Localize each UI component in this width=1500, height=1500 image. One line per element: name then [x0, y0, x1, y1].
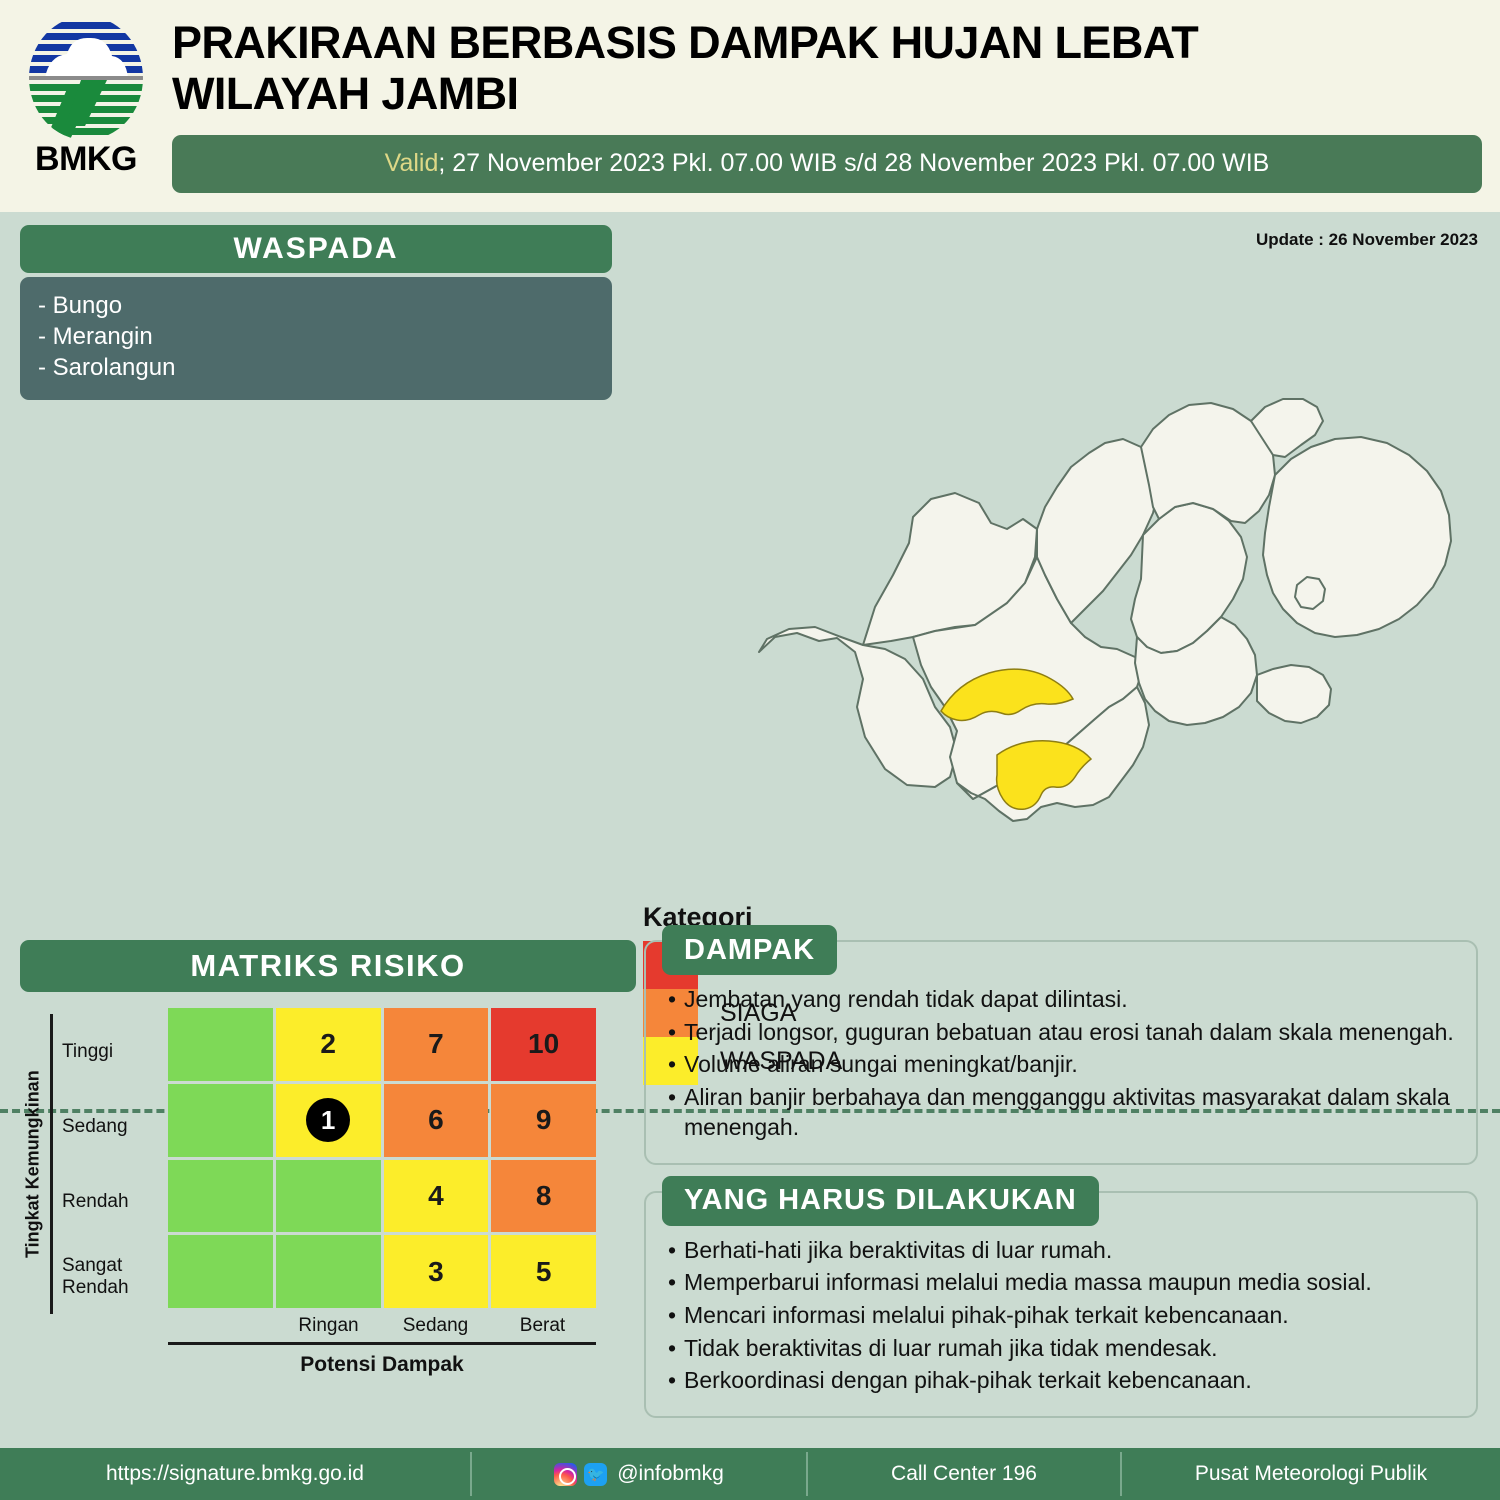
- matrix-grid-wrap: 27101694835 Ringan Sedang Berat Potensi …: [168, 1008, 596, 1377]
- tindakan-list: Berhati-hati jika beraktivitas di luar r…: [668, 1235, 1454, 1396]
- x-label-ringan: Ringan: [275, 1315, 382, 1337]
- list-item: Volume aliran sungai meningkat/banjir.: [668, 1049, 1454, 1080]
- y-label-sangat-rendah: Sangat Rendah: [62, 1239, 168, 1314]
- x-label-berat: Berat: [489, 1315, 596, 1337]
- list-item: - Merangin: [38, 321, 594, 352]
- validity-banner: Valid; 27 November 2023 Pkl. 07.00 WIB s…: [172, 135, 1482, 193]
- matrix-cell[interactable]: 1: [276, 1084, 381, 1157]
- matrix-cell[interactable]: 8: [491, 1160, 596, 1233]
- footer-social-handle: @infobmkg: [617, 1462, 724, 1486]
- footer-social[interactable]: @infobmkg: [472, 1448, 806, 1500]
- lower-section: MATRIKS RISIKO Tingkat Kemungkinan Tingg…: [0, 940, 1500, 1448]
- matrix-cell[interactable]: 7: [384, 1008, 489, 1081]
- list-item: Berhati-hati jika beraktivitas di luar r…: [668, 1235, 1454, 1266]
- list-item: Memperbarui informasi melalui media mass…: [668, 1267, 1454, 1298]
- waspada-region-list: - Bungo - Merangin - Sarolangun: [20, 277, 612, 400]
- y-label-sedang: Sedang: [62, 1089, 168, 1164]
- tindakan-heading: YANG HARUS DILAKUKAN: [662, 1176, 1099, 1226]
- y-label-tinggi: Tinggi: [62, 1014, 168, 1089]
- x-axis-line: [168, 1342, 596, 1345]
- matrix-cell[interactable]: 6: [384, 1084, 489, 1157]
- info-column: DAMPAK Jembatan yang rendah tidak dapat …: [636, 940, 1500, 1448]
- map-district: [1257, 665, 1331, 723]
- matrix-cell[interactable]: 9: [491, 1084, 596, 1157]
- dampak-heading: DAMPAK: [662, 925, 837, 975]
- risk-matrix-chart: Tingkat Kemungkinan Tinggi Sedang Rendah…: [20, 1008, 636, 1377]
- twitter-icon[interactable]: [584, 1463, 607, 1486]
- tindakan-panel: YANG HARUS DILAKUKAN Berhati-hati jika b…: [644, 1191, 1478, 1418]
- footer-department: Pusat Meteorologi Publik: [1122, 1448, 1500, 1500]
- matrix-cell[interactable]: [276, 1235, 381, 1308]
- validity-period: ; 27 November 2023 Pkl. 07.00 WIB s/d 28…: [438, 149, 1269, 177]
- header-content: PRAKIRAAN BERBASIS DAMPAK HUJAN LEBAT WI…: [172, 0, 1500, 193]
- y-axis-title: Tingkat Kemungkinan: [20, 1014, 46, 1314]
- jambi-province-map[interactable]: [745, 307, 1490, 827]
- list-item: Terjadi longsor, guguran bebatuan atau e…: [668, 1017, 1454, 1048]
- risk-matrix-heading: MATRIKS RISIKO: [20, 940, 636, 992]
- y-label-rendah: Rendah: [62, 1164, 168, 1239]
- x-label-blank: [168, 1315, 275, 1337]
- map-district: [1295, 577, 1325, 609]
- map-district: [1263, 437, 1451, 637]
- matrix-cell[interactable]: [168, 1008, 273, 1081]
- matrix-cell[interactable]: 4: [384, 1160, 489, 1233]
- matrix-cell[interactable]: 10: [491, 1008, 596, 1081]
- dampak-list: Jembatan yang rendah tidak dapat dilinta…: [668, 984, 1454, 1143]
- x-label-sedang: Sedang: [382, 1315, 489, 1337]
- list-item: - Sarolangun: [38, 352, 594, 383]
- list-item: - Bungo: [38, 290, 594, 321]
- footer-website[interactable]: https://signature.bmkg.go.id: [0, 1448, 470, 1500]
- page-footer: https://signature.bmkg.go.id @infobmkg C…: [0, 1448, 1500, 1500]
- waspada-heading: WASPADA: [20, 225, 612, 273]
- matrix-cell[interactable]: 5: [491, 1235, 596, 1308]
- waspada-panel: WASPADA - Bungo - Merangin - Sarolangun: [20, 225, 612, 400]
- page-title: PRAKIRAAN BERBASIS DAMPAK HUJAN LEBAT WI…: [172, 18, 1482, 120]
- risk-matrix-panel: MATRIKS RISIKO Tingkat Kemungkinan Tingg…: [0, 940, 636, 1448]
- social-icons: [554, 1463, 607, 1486]
- validity-keyword: Valid: [385, 149, 439, 177]
- upper-section: Update : 26 November 2023 WASPADA - Bung…: [0, 212, 1500, 897]
- matrix-cell[interactable]: [168, 1160, 273, 1233]
- matrix-cell[interactable]: 3: [384, 1235, 489, 1308]
- page-header: BMKG PRAKIRAAN BERBASIS DAMPAK HUJAN LEB…: [0, 0, 1500, 212]
- instagram-icon[interactable]: [554, 1463, 577, 1486]
- bmkg-logo-label: BMKG: [35, 140, 137, 179]
- bmkg-logo-icon: [25, 14, 147, 142]
- y-axis-line: [50, 1014, 53, 1314]
- footer-call-center: Call Center 196: [808, 1448, 1120, 1500]
- list-item: Aliran banjir berbahaya dan mengganggu a…: [668, 1082, 1454, 1143]
- list-item: Mencari informasi melalui pihak-pihak te…: [668, 1300, 1454, 1331]
- list-item: Berkoordinasi dengan pihak-pihak terkait…: [668, 1365, 1454, 1396]
- bmkg-logo: BMKG: [0, 0, 172, 179]
- matrix-grid[interactable]: 27101694835: [168, 1008, 596, 1308]
- matrix-cell[interactable]: [276, 1160, 381, 1233]
- dampak-panel: DAMPAK Jembatan yang rendah tidak dapat …: [644, 940, 1478, 1165]
- x-axis-title: Potensi Dampak: [168, 1353, 596, 1377]
- current-risk-marker: 1: [306, 1098, 350, 1142]
- list-item: Tidak beraktivitas di luar rumah jika ti…: [668, 1333, 1454, 1364]
- list-item: Jembatan yang rendah tidak dapat dilinta…: [668, 984, 1454, 1015]
- matrix-cell[interactable]: [168, 1235, 273, 1308]
- y-axis-labels: Tinggi Sedang Rendah Sangat Rendah: [62, 1014, 168, 1314]
- x-axis-labels: Ringan Sedang Berat: [168, 1315, 596, 1337]
- matrix-cell[interactable]: 2: [276, 1008, 381, 1081]
- matrix-cell[interactable]: [168, 1084, 273, 1157]
- update-date: Update : 26 November 2023: [1256, 230, 1478, 250]
